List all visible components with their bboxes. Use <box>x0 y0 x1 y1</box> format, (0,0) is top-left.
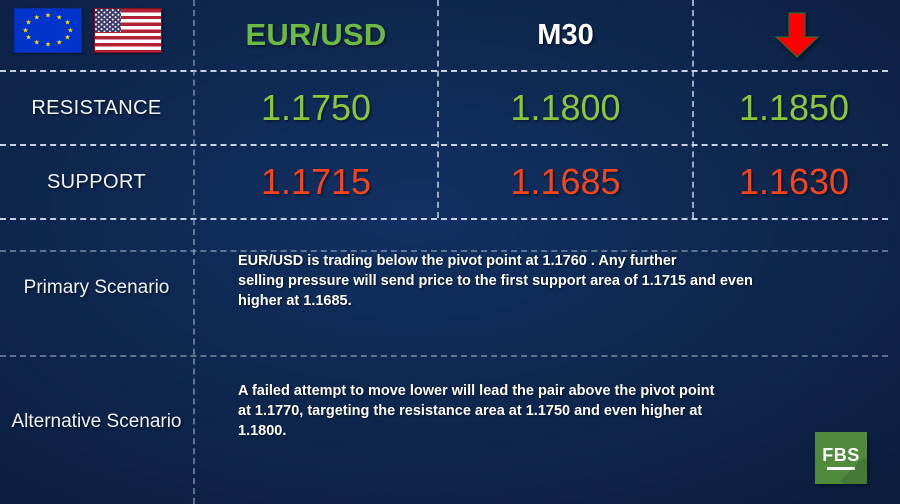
resistance-value-2: 1.1800 <box>439 72 692 144</box>
fbs-logo-text: FBS <box>822 446 860 464</box>
support-value-3: 1.1630 <box>694 146 894 218</box>
primary-scenario-label: Primary Scenario <box>0 220 193 354</box>
timeframe-label: M30 <box>439 0 692 70</box>
resistance-value-1: 1.1750 <box>195 72 437 144</box>
currency-flags: ★ ★ ★ ★ ★ ★ ★ ★ ★ ★ ★ ★ <box>14 8 162 53</box>
support-value-2: 1.1685 <box>439 146 692 218</box>
forex-signal-card: ★ ★ ★ ★ ★ ★ ★ ★ ★ ★ ★ ★ EUR/USD M30 RESI <box>0 0 900 504</box>
resistance-row-label: RESISTANCE <box>0 72 193 144</box>
eu-flag: ★ ★ ★ ★ ★ ★ ★ ★ ★ ★ ★ ★ <box>14 8 82 53</box>
alternative-scenario-label: Alternative Scenario <box>0 356 193 486</box>
primary-scenario-text: EUR/USD is trading below the pivot point… <box>238 251 868 311</box>
trend-direction <box>694 0 900 70</box>
support-value-1: 1.1715 <box>195 146 437 218</box>
us-flag <box>94 8 162 53</box>
support-row-label: SUPPORT <box>0 146 193 218</box>
arrow-down-icon <box>774 11 820 59</box>
resistance-value-3: 1.1850 <box>694 72 894 144</box>
fbs-logo-underline <box>827 467 855 470</box>
currency-pair-label: EUR/USD <box>195 0 437 70</box>
alternative-scenario-text: A failed attempt to move lower will lead… <box>238 381 868 441</box>
fbs-logo: FBS <box>815 432 867 484</box>
